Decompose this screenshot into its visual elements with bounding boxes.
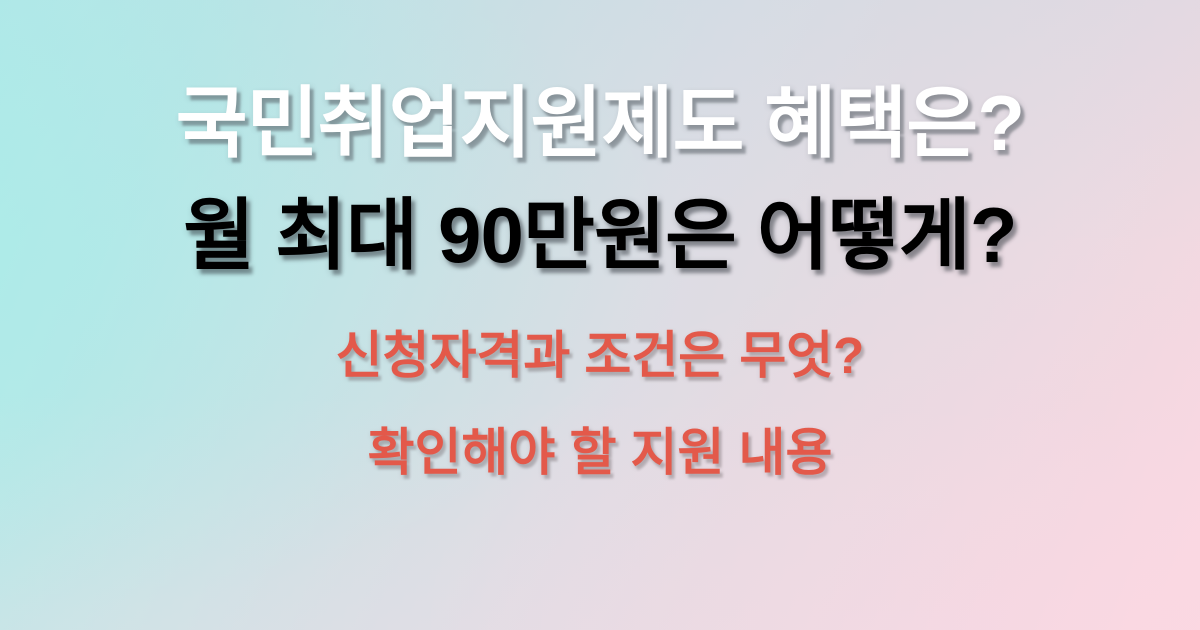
subheadline-line-2: 확인해야 할 지원 내용 (368, 427, 833, 478)
banner-content: 국민취업지원제도 혜택은? 월 최대 90만원은 어떻게? 신청자격과 조건은 … (0, 0, 1200, 630)
headline-line-1: 국민취업지원제도 혜택은? (176, 84, 1025, 162)
promo-banner: 국민취업지원제도 혜택은? 월 최대 90만원은 어떻게? 신청자격과 조건은 … (0, 0, 1200, 630)
headline-line-2: 월 최대 90만원은 어떻게? (183, 196, 1017, 274)
subheadline-line-1: 신청자격과 조건은 무엇? (336, 330, 865, 381)
